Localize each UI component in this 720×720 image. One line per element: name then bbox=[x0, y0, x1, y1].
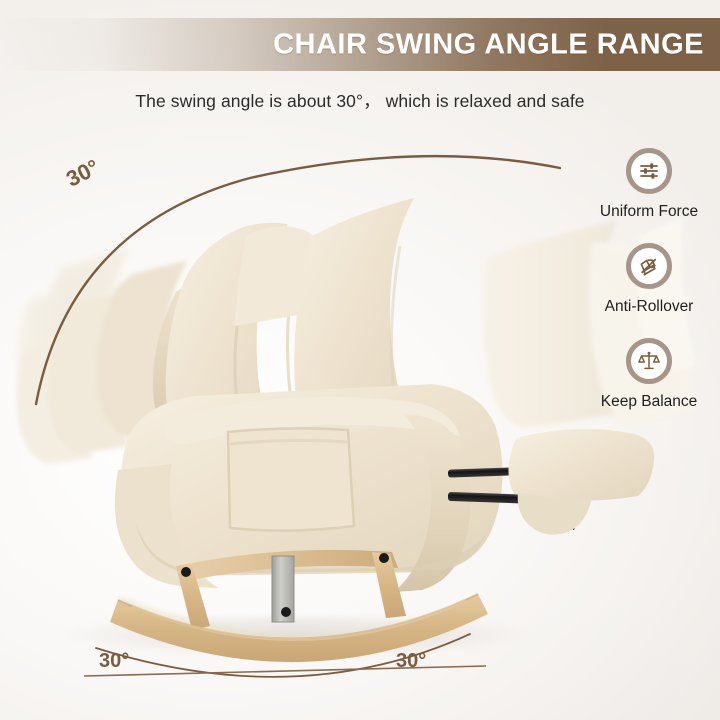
feature-label: Uniform Force bbox=[600, 203, 698, 221]
page-subtitle: The swing angle is about 30°， which is r… bbox=[0, 88, 720, 113]
angle-label-bottom-left: 30° bbox=[99, 650, 129, 673]
feature-anti-rollover[interactable]: Anti-Rollover bbox=[605, 243, 694, 316]
feature-label: Keep Balance bbox=[601, 393, 698, 411]
side-pocket bbox=[228, 428, 354, 530]
sliders-icon bbox=[637, 159, 661, 183]
feature-list: Uniform Force Anti-Rollover bbox=[584, 148, 714, 411]
feature-badge bbox=[626, 148, 672, 194]
header-banner: CHAIR SWING ANGLE RANGE bbox=[0, 18, 720, 71]
feature-keep-balance[interactable]: Keep Balance bbox=[601, 338, 698, 411]
feature-uniform-force[interactable]: Uniform Force bbox=[600, 148, 698, 221]
infographic-canvas: CHAIR SWING ANGLE RANGE The swing angle … bbox=[0, 0, 720, 720]
anti-rollover-chair-icon bbox=[636, 254, 661, 279]
feature-label: Anti-Rollover bbox=[605, 298, 694, 316]
page-title: CHAIR SWING ANGLE RANGE bbox=[273, 28, 704, 61]
balance-scales-icon bbox=[637, 349, 661, 373]
feature-badge bbox=[626, 338, 672, 384]
feature-badge bbox=[626, 243, 672, 289]
angle-label-bottom-right: 30° bbox=[396, 650, 426, 673]
